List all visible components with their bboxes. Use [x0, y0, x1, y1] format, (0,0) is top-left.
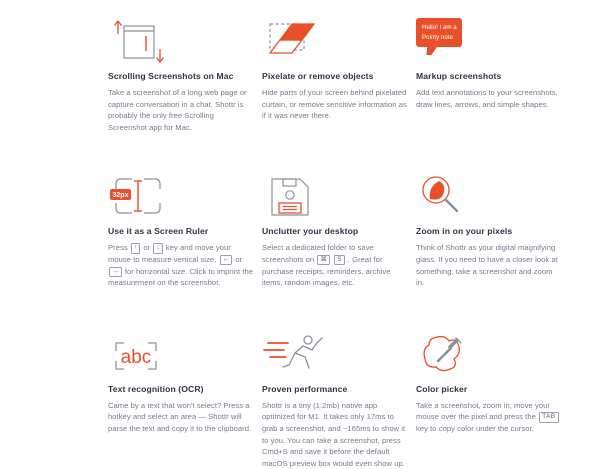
body-text-part: Take a screenshot, zoom in, move your mo…	[416, 401, 550, 422]
pixelate-eraser-icon	[262, 14, 408, 70]
feature-card-pixelate-remove[interactable]: Pixelate or remove objects Hide parts of…	[262, 6, 408, 133]
kbd-arrow-right: →	[109, 267, 122, 278]
floppy-disk-icon	[262, 169, 408, 225]
feature-body: Take a screenshot of a long web page or …	[108, 87, 254, 133]
feature-card-screen-ruler[interactable]: 32px Use it as a Screen Ruler Press ↑ or…	[108, 161, 254, 288]
feature-title: Scrolling Screenshots on Mac	[108, 70, 254, 82]
feature-body: Shottr is a tiny (1.2mb) native app opti…	[262, 400, 408, 469]
feature-body: Select a dedicated folder to save screen…	[262, 242, 408, 288]
note-line-2: Pointy note	[422, 33, 457, 43]
feature-body: Came by a text that won't select? Press …	[108, 400, 254, 435]
feature-card-proven-performance[interactable]: Proven performance Shottr is a tiny (1.2…	[262, 319, 408, 469]
feature-title: Color picker	[416, 383, 562, 395]
note-line-1: Hello! I am a	[422, 23, 457, 33]
feature-body: Add text annotations to your screenshots…	[416, 87, 562, 110]
body-text-part: or	[233, 255, 242, 264]
kbd-tab: TAB	[539, 412, 559, 423]
body-text-part: key to copy color under the cursor.	[416, 424, 534, 433]
features-grid: Scrolling Screenshots on Mac Take a scre…	[108, 0, 600, 469]
feature-card-scrolling-screenshots[interactable]: Scrolling Screenshots on Mac Take a scre…	[108, 6, 254, 133]
kbd-arrow-down: ↓	[153, 243, 162, 254]
running-man-icon	[262, 327, 408, 383]
feature-title: Pixelate or remove objects	[262, 70, 408, 82]
feature-card-text-recognition[interactable]: abc Text recognition (OCR) Came by a tex…	[108, 319, 254, 469]
feature-body: Take a screenshot, zoom in, move your mo…	[416, 400, 562, 435]
body-text-part: Press	[108, 243, 130, 252]
scrolling-screenshot-icon	[108, 14, 254, 70]
feature-card-markup-screenshots[interactable]: Hello! I am a Pointy note Markup screens…	[416, 6, 562, 133]
kbd-arrow-left: ←	[220, 255, 233, 266]
features-page: Scrolling Screenshots on Mac Take a scre…	[0, 0, 600, 444]
kbd-arrow-up: ↑	[131, 243, 140, 254]
note-bubble: Hello! I am a Pointy note	[416, 18, 462, 47]
magnifying-glass-icon	[416, 169, 562, 225]
eyedropper-icon	[416, 327, 562, 383]
feature-title: Use it as a Screen Ruler	[108, 225, 254, 237]
feature-title: Text recognition (OCR)	[108, 383, 254, 395]
body-text-part: or	[141, 243, 152, 252]
body-text-part	[331, 255, 333, 264]
ruler-badge-text: 32px	[113, 192, 129, 199]
feature-body: Press ↑ or ↓ key and move your mouse to …	[108, 242, 254, 288]
feature-body: Hide parts of your screen behind pixelat…	[262, 87, 408, 122]
kbd-s: S	[334, 255, 344, 266]
body-text-part: for horizontal size. Click to imprint th…	[108, 267, 253, 288]
feature-card-zoom-pixels[interactable]: Zoom in on your pixels Think of Shottr a…	[416, 161, 562, 288]
ocr-icon-text: abc	[121, 347, 152, 368]
kbd-command: ⌘	[317, 255, 330, 266]
feature-body: Think of Shottr as your digital magnifyi…	[416, 242, 562, 288]
feature-title: Proven performance	[262, 383, 408, 395]
feature-card-unclutter-desktop[interactable]: Unclutter your desktop Select a dedicate…	[262, 161, 408, 288]
feature-title: Zoom in on your pixels	[416, 225, 562, 237]
pointy-note-icon: Hello! I am a Pointy note	[416, 14, 562, 70]
ocr-abc-icon: abc	[108, 327, 254, 383]
feature-title: Unclutter your desktop	[262, 225, 408, 237]
feature-title: Markup screenshots	[416, 70, 562, 82]
screen-ruler-icon: 32px	[108, 169, 254, 225]
feature-card-color-picker[interactable]: Color picker Take a screenshot, zoom in,…	[416, 319, 562, 469]
